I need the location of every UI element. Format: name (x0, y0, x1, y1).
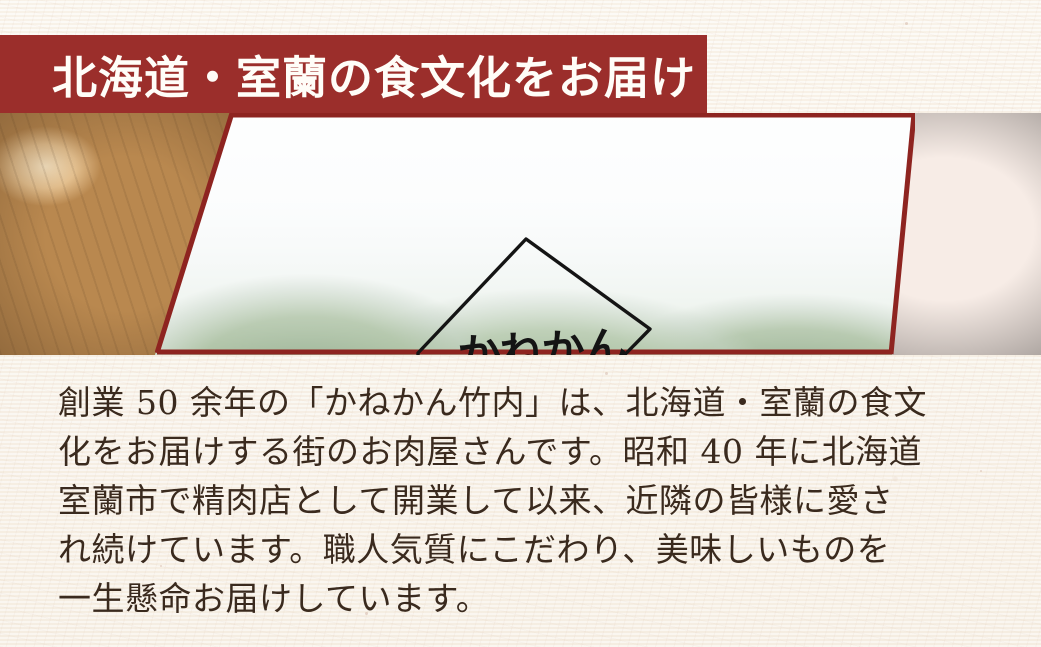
brand-logo: かねかん TAKEUCHI Muroran (388, 233, 688, 355)
body-line: 室蘭市で精肉店として開業して以来、近隣の皆様に愛さ (58, 476, 998, 525)
body-copy: 創業 50 余年の「かねかん竹内」は、北海道・室蘭の食文 化をお届けする街のお肉… (58, 378, 998, 623)
banner-title: 北海道・室蘭の食文化をお届け (52, 42, 696, 107)
photo-band: かねかん TAKEUCHI Muroran (0, 113, 1041, 355)
body-line: 一生懸命お届けしています。 (58, 574, 998, 623)
body-line: 創業 50 余年の「かねかん竹内」は、北海道・室蘭の食文 (58, 378, 998, 427)
paper-fleck (605, 372, 608, 375)
body-line: れ続けています。職人気質にこだわり、美味しいものを (58, 525, 998, 574)
paper-fleck (905, 22, 908, 25)
header-banner: 北海道・室蘭の食文化をお届け (0, 35, 707, 113)
promo-page: 北海道・室蘭の食文化をお届け かねかん TAKEUCHI Muror (0, 0, 1041, 647)
body-line: 化をお届けする街のお肉屋さんです。昭和 40 年に北海道 (58, 427, 998, 476)
